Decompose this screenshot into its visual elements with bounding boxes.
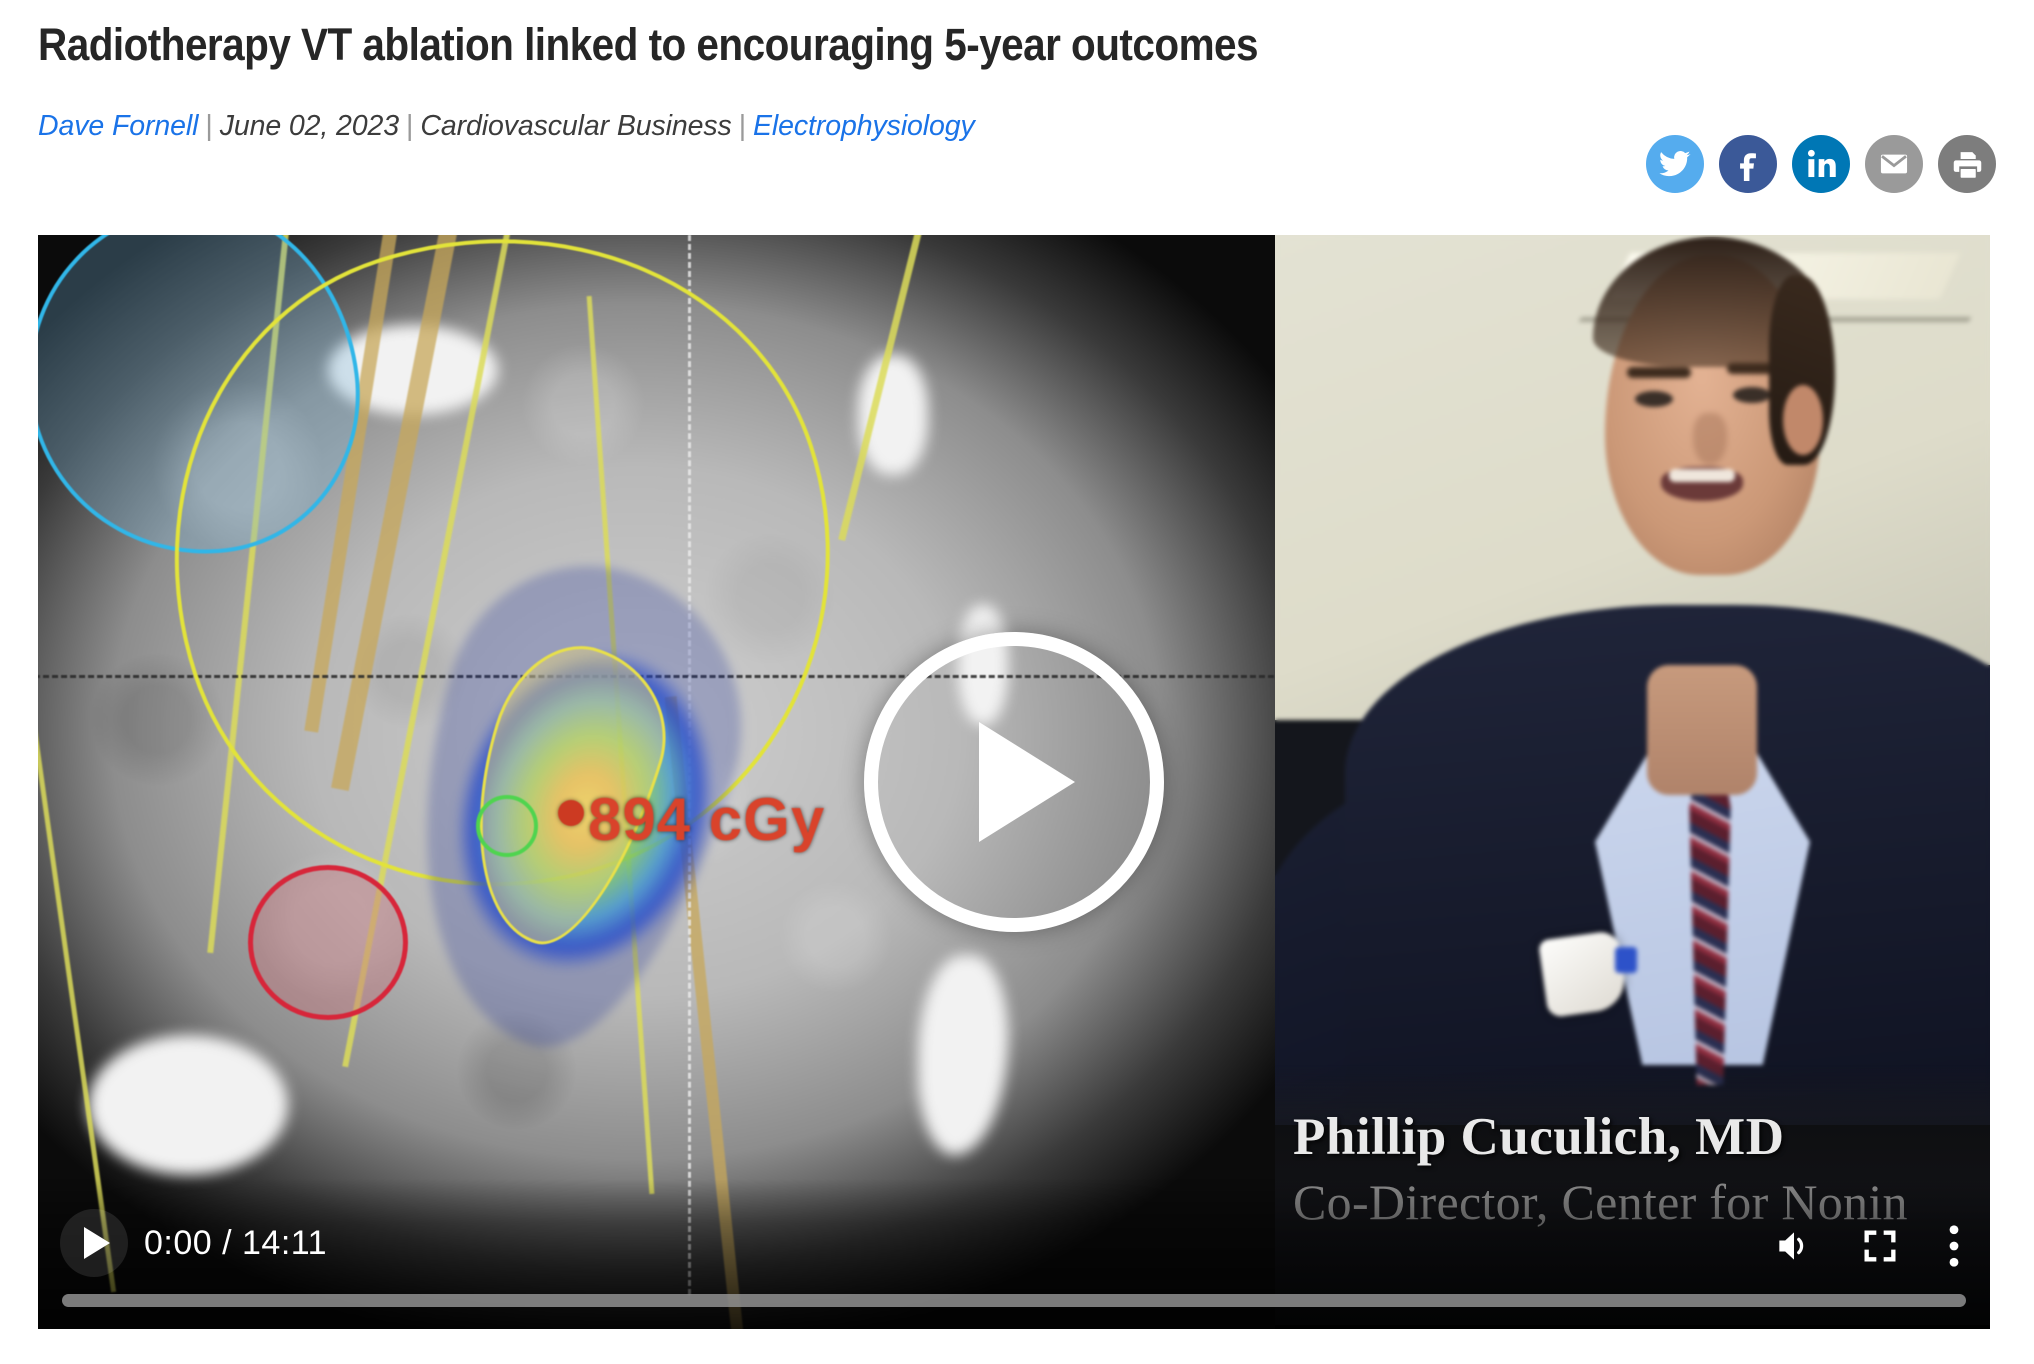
byline-category-link[interactable]: Electrophysiology	[753, 110, 975, 142]
eye-right	[1733, 387, 1771, 403]
fullscreen-button[interactable]	[1860, 1226, 1900, 1271]
facebook-share-button[interactable]	[1719, 135, 1777, 193]
printer-icon	[1951, 148, 1984, 181]
article-header: Radiotherapy VT ablation linked to encou…	[38, 20, 1996, 143]
green-isocenter-marker	[476, 795, 538, 857]
control-bar-left-group: 0:00 / 14:11	[60, 1209, 327, 1277]
control-bar-right-group	[1772, 1224, 1964, 1273]
neck	[1647, 665, 1757, 795]
byline-separator-2: |	[406, 110, 413, 142]
facebook-icon	[1731, 147, 1765, 181]
red-point-marker	[558, 800, 584, 826]
nose	[1693, 413, 1727, 465]
interview-camera-image	[1275, 235, 1990, 1125]
interview-video-pane: Phillip Cuculich, MD Co-Director, Center…	[1275, 235, 1990, 1329]
eye-left	[1635, 391, 1673, 407]
fullscreen-icon	[1860, 1226, 1900, 1271]
article-page: Radiotherapy VT ablation linked to encou…	[0, 0, 2034, 1364]
envelope-icon	[1878, 148, 1910, 180]
ear	[1783, 385, 1823, 455]
speaker-name: Phillip Cuculich, MD	[1293, 1107, 1784, 1167]
byline-separator-3: |	[739, 110, 746, 142]
play-button[interactable]	[60, 1209, 128, 1277]
video-player[interactable]: 894 cGy	[38, 235, 1990, 1329]
time-display: 0:00 / 14:11	[144, 1224, 327, 1263]
play-icon	[84, 1227, 110, 1259]
lapel-pin	[1615, 947, 1637, 973]
dose-value-label: 894 cGy	[588, 785, 825, 854]
linkedin-share-button[interactable]	[1792, 135, 1850, 193]
play-triangle-icon	[979, 722, 1075, 842]
byline-separator-1: |	[205, 110, 212, 142]
byline-date: June 02, 2023	[220, 110, 399, 142]
lower-third-caption: Phillip Cuculich, MD Co-Director, Center…	[1275, 1065, 1990, 1325]
red-vessel-contour	[248, 865, 408, 1020]
teeth	[1669, 469, 1735, 482]
kebab-menu-icon	[1944, 1224, 1964, 1273]
page-title: Radiotherapy VT ablation linked to encou…	[38, 20, 1800, 70]
progress-scrubber[interactable]	[62, 1294, 1966, 1307]
eyebrow-left	[1627, 367, 1691, 378]
more-options-button[interactable]	[1944, 1224, 1964, 1273]
print-button[interactable]	[1938, 135, 1996, 193]
byline-author-link[interactable]: Dave Fornell	[38, 110, 198, 142]
social-share-bar	[1646, 135, 1996, 193]
email-share-button[interactable]	[1865, 135, 1923, 193]
twitter-icon	[1658, 147, 1692, 181]
speaker-title: Co-Director, Center for Nonin	[1293, 1173, 1908, 1231]
center-play-button[interactable]	[864, 632, 1164, 932]
twitter-share-button[interactable]	[1646, 135, 1704, 193]
linkedin-icon	[1804, 147, 1838, 181]
byline-publication: Cardiovascular Business	[420, 110, 731, 142]
volume-icon	[1772, 1224, 1816, 1273]
vertebra-bone	[88, 1035, 288, 1175]
volume-button[interactable]	[1772, 1224, 1816, 1273]
